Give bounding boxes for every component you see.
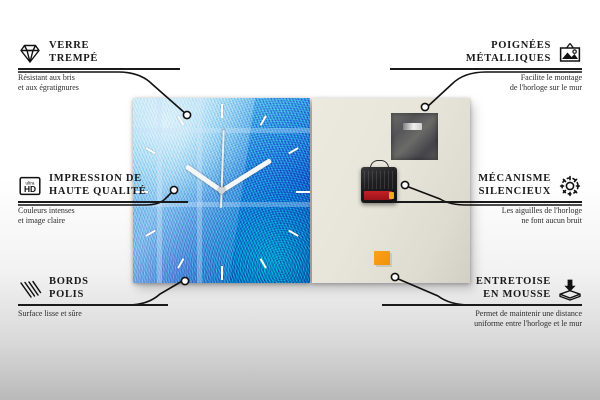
callout-header: BORDSPOLIS: [18, 276, 168, 301]
callout-mecanisme-silencieux[interactable]: MÉCANISMESILENCIEUX Les aiguilles de l'h…: [392, 173, 582, 227]
callout-rule: [382, 304, 582, 306]
callout-header: ultra HD IMPRESSION DEHAUTE QUALITÉ: [18, 173, 188, 198]
ultra-hd-icon: ultra HD: [18, 174, 42, 198]
callout-header: ENTRETOISEEN MOUSSE: [382, 276, 582, 301]
callout-rule: [18, 304, 168, 306]
callout-subtitle: Résistant aux briset aux égratignures: [18, 73, 180, 94]
picture-frame-hanger-icon: [558, 41, 582, 65]
clock-tick: [222, 191, 310, 193]
svg-text:HD: HD: [24, 184, 36, 194]
polished-edges-icon: [18, 277, 42, 301]
gear-icon: [558, 174, 582, 198]
foam-spacer: [374, 251, 390, 265]
callout-impression-haute-qualite[interactable]: ultra HD IMPRESSION DEHAUTE QUALITÉ Coul…: [18, 173, 188, 227]
callout-entretoise-en-mousse[interactable]: ENTRETOISEEN MOUSSE Permet de maintenir …: [382, 276, 582, 330]
callout-bords-polis[interactable]: BORDSPOLIS Surface lisse et sûre: [18, 276, 168, 319]
callout-subtitle: Permet de maintenir une distanceuniforme…: [382, 309, 582, 330]
callout-header: MÉCANISMESILENCIEUX: [392, 173, 582, 198]
callout-title: VERRETREMPÉ: [49, 40, 98, 65]
callout-subtitle: Couleurs intenseset image claire: [18, 206, 188, 227]
callout-subtitle: Les aiguilles de l'horlogene font aucun …: [392, 206, 582, 227]
callout-header: POIGNÉESMÉTALLIQUES: [390, 40, 582, 65]
mechanism-hanger-loop: [370, 160, 389, 171]
infographic-canvas: VERRETREMPÉ Résistant aux briset aux égr…: [0, 0, 600, 400]
mechanism-texture: [364, 171, 394, 189]
callout-title: POIGNÉESMÉTALLIQUES: [466, 40, 551, 65]
callout-subtitle: Facilite le montagede l'horloge sur le m…: [390, 73, 582, 94]
foam-spacer-arrow-icon: [558, 277, 582, 301]
callout-rule: [18, 201, 188, 203]
callout-verre-trempe[interactable]: VERRETREMPÉ Résistant aux briset aux égr…: [18, 40, 180, 94]
diamond-icon: [18, 41, 42, 65]
callout-title: ENTRETOISEEN MOUSSE: [476, 276, 551, 301]
battery: [364, 191, 392, 200]
callout-title: MÉCANISMESILENCIEUX: [478, 173, 551, 198]
callout-header: VERRETREMPÉ: [18, 40, 180, 65]
callout-poignees-metalliques[interactable]: POIGNÉESMÉTALLIQUES Facilite le montaged…: [390, 40, 582, 94]
callout-rule: [390, 68, 582, 70]
callout-title: BORDSPOLIS: [49, 276, 89, 301]
callout-subtitle: Surface lisse et sûre: [18, 309, 168, 320]
callout-rule: [18, 68, 180, 70]
metal-hanger-plate: [391, 113, 438, 160]
callout-rule: [392, 201, 582, 203]
callout-title: IMPRESSION DEHAUTE QUALITÉ: [49, 173, 147, 198]
clock-center-cap: [218, 187, 225, 194]
